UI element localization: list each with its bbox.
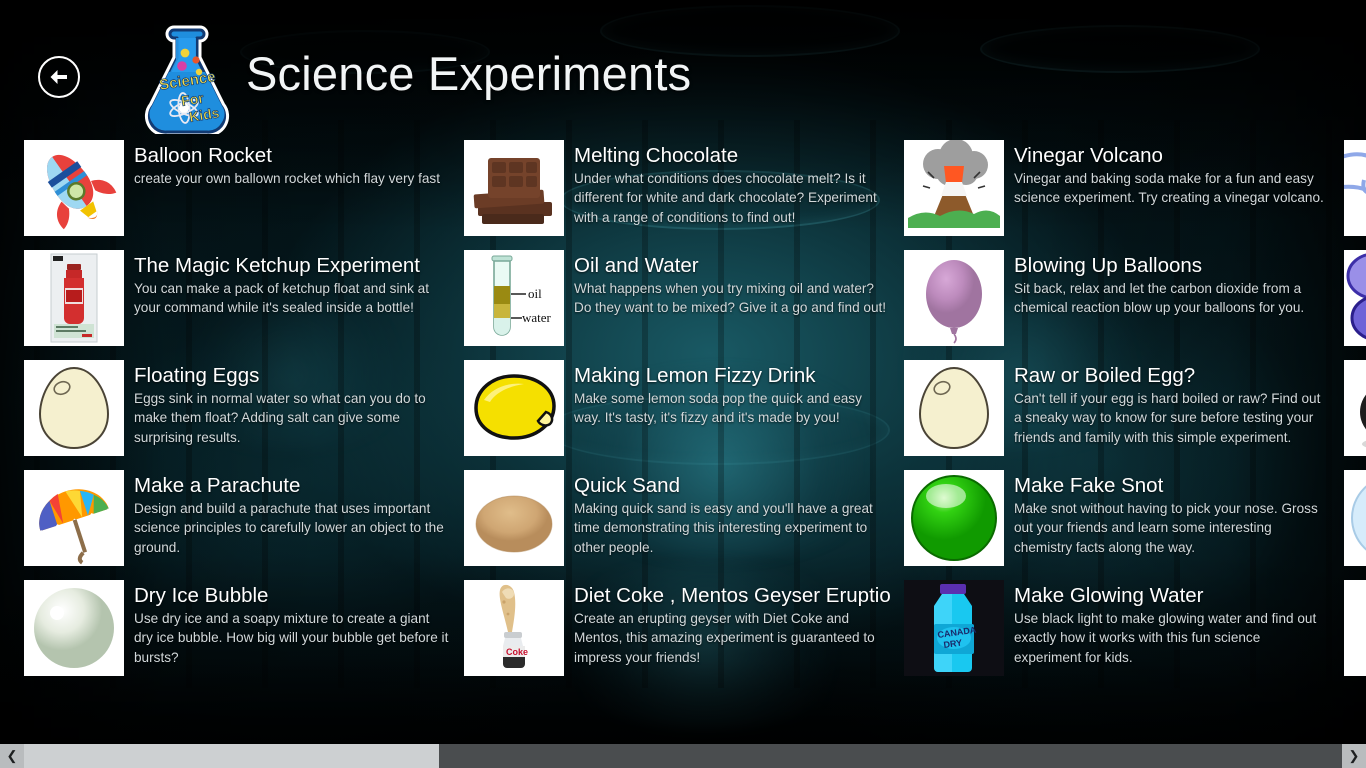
egg-thumbnail: [24, 360, 124, 456]
experiment-meta: Floating EggsEggs sink in normal water s…: [124, 360, 464, 456]
scroll-right-arrow-icon[interactable]: ❯: [1342, 744, 1366, 768]
grid-column-2: Vinegar VolcanoVinegar and baking soda m…: [904, 140, 1344, 700]
test-tube-thumbnail: oil water: [464, 250, 564, 346]
scroll-left-arrow-icon[interactable]: ❮: [0, 744, 24, 768]
grid-column-0: Balloon Rocketcreate your own ballown ro…: [24, 140, 464, 700]
experiment-tile[interactable]: Making Lemon Fizzy DrinkMake some lemon …: [464, 360, 904, 456]
svg-text:oil: oil: [528, 286, 542, 301]
experiment-meta: Blowing Up BalloonsSit back, relax and l…: [1004, 250, 1344, 346]
experiment-meta: Making Lemon Fizzy DrinkMake some lemon …: [564, 360, 904, 456]
experiment-description: create your own ballown rocket which fla…: [134, 169, 450, 188]
experiment-description: Sit back, relax and let the carbon dioxi…: [1014, 279, 1330, 318]
experiment-meta: Raw or Boiled Egg?Can't tell if your egg…: [1004, 360, 1344, 456]
chocolate-thumbnail: [464, 140, 564, 236]
experiment-title: Raw or Boiled Egg?: [1014, 364, 1330, 388]
experiment-meta: Vinegar VolcanoVinegar and baking soda m…: [1004, 140, 1344, 236]
glowing-bottle-thumbnail: CANADA DRY: [904, 580, 1004, 676]
experiment-title: The Magic Ketchup Experiment: [134, 254, 450, 278]
experiment-description: What happens when you try mixing oil and…: [574, 279, 890, 318]
experiment-meta: Oil and WaterWhat happens when you try m…: [564, 250, 904, 346]
experiment-title: Balloon Rocket: [134, 144, 450, 168]
app-logo: Science For Kids: [138, 22, 236, 134]
experiment-tile[interactable]: Vinegar VolcanoVinegar and baking soda m…: [904, 140, 1344, 236]
experiment-meta: Quick SandMaking quick sand is easy and …: [564, 470, 904, 566]
petri-dish-thumbnail: [1344, 470, 1366, 566]
experiment-meta: Dry Ice BubbleUse dry ice and a soapy mi…: [124, 580, 464, 676]
purple-balloons-thumbnail: [1344, 250, 1366, 346]
experiment-description: Can't tell if your egg is hard boiled or…: [1014, 389, 1330, 447]
experiment-description: Design and build a parachute that uses i…: [134, 499, 450, 557]
experiment-description: Create an erupting geyser with Diet Coke…: [574, 609, 890, 667]
page-header: Science For Kids Science Experiments: [0, 0, 1366, 132]
green-sphere-thumbnail: [904, 470, 1004, 566]
flask-logo-icon: Science For Kids: [138, 22, 236, 134]
bomb-thumbnail: [1344, 360, 1366, 456]
experiment-meta: Balloon Rocketcreate your own ballown ro…: [124, 140, 464, 236]
experiment-description: Making quick sand is easy and you'll hav…: [574, 499, 890, 557]
experiment-description: Use dry ice and a soapy mixture to creat…: [134, 609, 450, 667]
experiment-tile[interactable]: [1344, 250, 1366, 346]
experiment-tile[interactable]: oil waterOil and WaterWhat happens when …: [464, 250, 904, 346]
scrollbar-thumb[interactable]: [24, 744, 439, 768]
experiment-description: You can make a pack of ketchup float and…: [134, 279, 450, 318]
experiment-description: Eggs sink in normal water so what can yo…: [134, 389, 450, 447]
experiment-tile[interactable]: Dry Ice BubbleUse dry ice and a soapy mi…: [24, 580, 464, 676]
experiment-title: Quick Sand: [574, 474, 890, 498]
experiment-title: Vinegar Volcano: [1014, 144, 1330, 168]
experiment-tile[interactable]: [1344, 470, 1366, 566]
experiment-tile[interactable]: Make a ParachuteDesign and build a parac…: [24, 470, 464, 566]
experiment-tile[interactable]: Blowing Up BalloonsSit back, relax and l…: [904, 250, 1344, 346]
grid-column-3: [1344, 140, 1366, 700]
balloon-thumbnail: [904, 250, 1004, 346]
swirl-thumbnail: [1344, 140, 1366, 236]
ketchup-packet-thumbnail: [24, 250, 124, 346]
coke-geyser-thumbnail: Coke: [464, 580, 564, 676]
page-title: Science Experiments: [246, 46, 691, 101]
experiment-tile[interactable]: Quick SandMaking quick sand is easy and …: [464, 470, 904, 566]
experiment-meta: The Magic Ketchup ExperimentYou can make…: [124, 250, 464, 346]
experiment-meta: Make Fake SnotMake snot without having t…: [1004, 470, 1344, 566]
experiment-meta: Diet Coke , Mentos Geyser EruptioCreate …: [564, 580, 904, 676]
experiment-title: Floating Eggs: [134, 364, 450, 388]
experiment-tile[interactable]: The Magic Ketchup ExperimentYou can make…: [24, 250, 464, 346]
blank-thumbnail: [1344, 580, 1366, 676]
experiment-meta: Melting ChocolateUnder what conditions d…: [564, 140, 904, 236]
umbrella-thumbnail: [24, 470, 124, 566]
experiment-title: Make Fake Snot: [1014, 474, 1330, 498]
experiment-description: Vinegar and baking soda make for a fun a…: [1014, 169, 1330, 208]
experiment-tile[interactable]: [1344, 140, 1366, 236]
volcano-thumbnail: [904, 140, 1004, 236]
experiment-tile[interactable]: CANADA DRYMake Glowing WaterUse black li…: [904, 580, 1344, 676]
svg-text:water: water: [522, 310, 552, 325]
experiment-title: Dry Ice Bubble: [134, 584, 450, 608]
experiment-meta: Make Glowing WaterUse black light to mak…: [1004, 580, 1344, 676]
experiment-title: Oil and Water: [574, 254, 890, 278]
horizontal-scrollbar[interactable]: ❮ ❯: [0, 744, 1366, 768]
experiment-title: Making Lemon Fizzy Drink: [574, 364, 890, 388]
experiment-title: Make Glowing Water: [1014, 584, 1330, 608]
experiment-description: Use black light to make glowing water an…: [1014, 609, 1330, 667]
experiment-description: Make snot without having to pick your no…: [1014, 499, 1330, 557]
experiment-title: Melting Chocolate: [574, 144, 890, 168]
svg-text:Coke: Coke: [506, 647, 528, 657]
experiment-tile[interactable]: [1344, 360, 1366, 456]
experiment-title: Make a Parachute: [134, 474, 450, 498]
egg-thumbnail: [904, 360, 1004, 456]
experiment-description: Under what conditions does chocolate mel…: [574, 169, 890, 227]
experiment-meta: Make a ParachuteDesign and build a parac…: [124, 470, 464, 566]
bubble-thumbnail: [24, 580, 124, 676]
lemon-thumbnail: [464, 360, 564, 456]
experiment-description: Make some lemon soda pop the quick and e…: [574, 389, 890, 428]
experiment-title: Diet Coke , Mentos Geyser Eruptio: [574, 584, 890, 608]
experiment-tile[interactable]: [1344, 580, 1366, 676]
experiment-tile[interactable]: Melting ChocolateUnder what conditions d…: [464, 140, 904, 236]
experiment-title: Blowing Up Balloons: [1014, 254, 1330, 278]
back-button[interactable]: [38, 56, 80, 98]
experiments-grid: Balloon Rocketcreate your own ballown ro…: [0, 140, 1366, 712]
experiment-tile[interactable]: CokeDiet Coke , Mentos Geyser EruptioCre…: [464, 580, 904, 676]
scrollbar-track[interactable]: [24, 744, 1342, 768]
experiment-tile[interactable]: Make Fake SnotMake snot without having t…: [904, 470, 1344, 566]
arrow-left-icon: [48, 68, 70, 86]
experiment-tile[interactable]: Floating EggsEggs sink in normal water s…: [24, 360, 464, 456]
sand-pile-thumbnail: [464, 470, 564, 566]
experiment-tile[interactable]: Balloon Rocketcreate your own ballown ro…: [24, 140, 464, 236]
experiment-tile[interactable]: Raw or Boiled Egg?Can't tell if your egg…: [904, 360, 1344, 456]
grid-column-1: Melting ChocolateUnder what conditions d…: [464, 140, 904, 700]
app-window: Science For Kids Science Experiments Bal…: [0, 0, 1366, 768]
rocket-thumbnail: [24, 140, 124, 236]
